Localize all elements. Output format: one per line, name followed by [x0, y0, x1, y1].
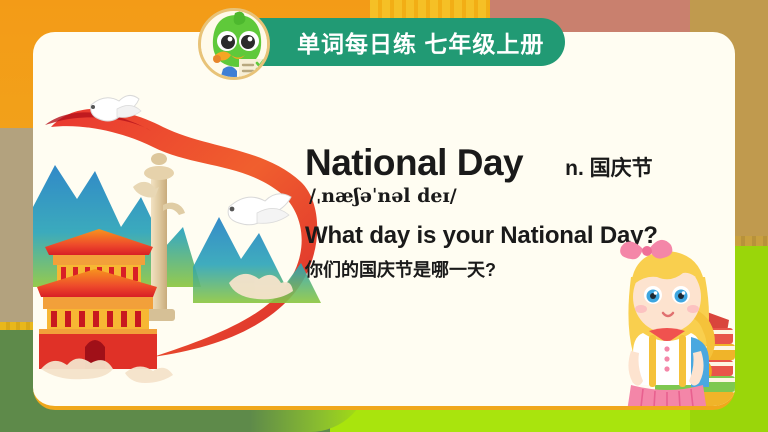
banner-title: 单词每日练 七年级上册	[297, 25, 544, 59]
vocabulary-word: National Day	[305, 142, 523, 184]
phonetic-transcription: /ˌnæʃəˈnəl deɪ/	[309, 185, 457, 207]
dove-right	[228, 194, 291, 225]
word-heading-row: National Day n. 国庆节	[305, 142, 705, 184]
word-meaning: n. 国庆节	[565, 152, 653, 182]
tiananmen-gate	[37, 229, 157, 369]
mascot-badge[interactable]	[198, 8, 270, 80]
lesson-card: National Day n. 国庆节 /ˌnæʃəˈnəl deɪ/ What…	[33, 32, 735, 410]
example-sentence-chinese: 你们的国庆节是哪一天?	[305, 256, 496, 282]
national-day-illustration	[33, 87, 323, 387]
header-banner: 单词每日练 七年级上册	[225, 18, 565, 66]
example-sentence-english: What day is your National Day?	[305, 222, 658, 250]
schoolgirl-character	[609, 231, 727, 406]
pink-bow-icon	[620, 240, 672, 259]
